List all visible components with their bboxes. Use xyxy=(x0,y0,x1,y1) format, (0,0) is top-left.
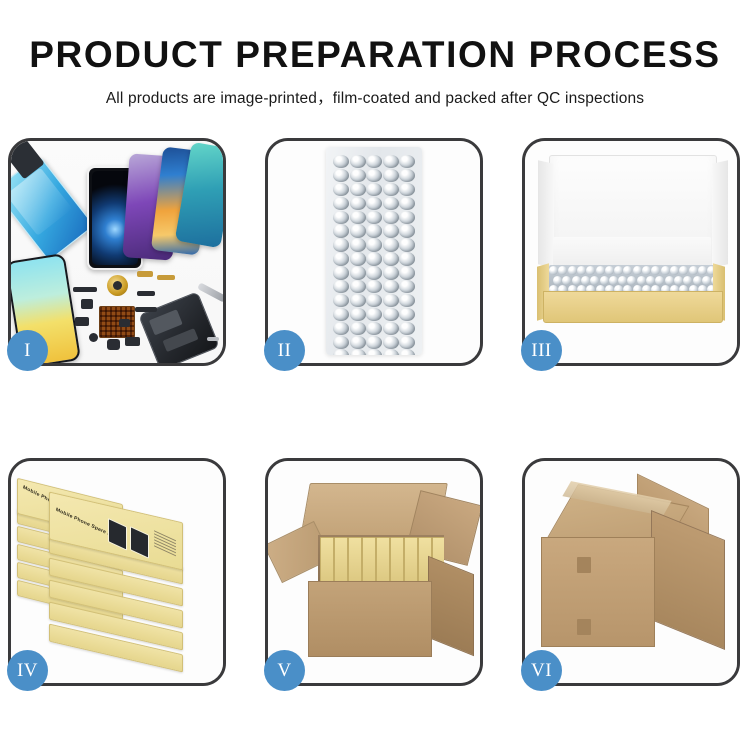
bubble-cell xyxy=(350,322,366,335)
bubble-cell xyxy=(399,294,415,307)
bubble-cell xyxy=(350,211,366,224)
bubble-cell xyxy=(549,266,558,275)
process-step-card-1: I xyxy=(8,138,226,366)
step-badge-6: VI xyxy=(521,650,562,691)
kraft-box-front-icon xyxy=(543,291,723,323)
step-badge-2: II xyxy=(264,330,305,371)
process-step-card-6: VI xyxy=(522,458,740,686)
bubble-cell xyxy=(399,266,415,279)
bubble-cell xyxy=(399,349,415,355)
bubble-cell xyxy=(383,252,399,265)
bubble-cell xyxy=(399,308,415,321)
page-subtitle: All products are image-printed，film-coat… xyxy=(0,75,750,108)
process-step-card-3: III xyxy=(522,138,740,366)
ribbon-cable-part-icon xyxy=(135,307,157,312)
bubble-cell xyxy=(366,308,382,321)
bubble-cell xyxy=(333,294,349,307)
bubble-cell xyxy=(399,211,415,224)
bubble-cell xyxy=(399,336,415,349)
process-step-card-5: V xyxy=(265,458,483,686)
carton-front-panel-icon xyxy=(308,581,432,657)
bubble-cell xyxy=(333,183,349,196)
bubble-cell xyxy=(399,197,415,210)
bubble-cell xyxy=(333,238,349,251)
carton-tab-lower-icon xyxy=(577,619,591,635)
bubble-cell xyxy=(399,155,415,168)
step-3-illustration xyxy=(525,141,737,363)
bubble-cell xyxy=(350,308,366,321)
bubble-cell xyxy=(366,197,382,210)
bubble-cell xyxy=(350,197,366,210)
bubble-cell xyxy=(600,276,609,285)
bubble-cell xyxy=(383,266,399,279)
page-title: PRODUCT PREPARATION PROCESS xyxy=(0,0,750,75)
bubble-cell xyxy=(333,322,349,335)
bubble-cell xyxy=(670,266,679,275)
bubble-cell xyxy=(553,276,562,285)
bubble-cell xyxy=(693,276,702,285)
bubble-cell xyxy=(350,280,366,293)
bubble-cell xyxy=(350,183,366,196)
speaker-part-icon xyxy=(125,337,140,346)
bubble-cell xyxy=(366,224,382,237)
bubble-cell xyxy=(627,276,636,285)
bubble-cell xyxy=(642,266,651,275)
bubble-cell xyxy=(689,266,698,275)
bubble-cell xyxy=(366,183,382,196)
bubble-cell xyxy=(333,336,349,349)
process-steps-grid: I II III xyxy=(8,138,742,686)
bubble-cell xyxy=(383,280,399,293)
bubble-cell xyxy=(333,155,349,168)
bubble-cell xyxy=(702,276,711,285)
bubble-cell xyxy=(383,197,399,210)
bubble-cell xyxy=(661,266,670,275)
vibrator-part-icon xyxy=(119,319,130,327)
bubble-cell xyxy=(399,280,415,293)
bubble-cell xyxy=(350,294,366,307)
bubble-cell xyxy=(350,169,366,182)
bubble-cell xyxy=(383,224,399,237)
bubble-cell xyxy=(333,224,349,237)
bubble-cell xyxy=(399,169,415,182)
bubble-cell xyxy=(646,276,655,285)
sealed-carton-front-icon xyxy=(541,537,655,647)
step-4-illustration: Mobile Phone Spare Parts Mobile Phone Sp… xyxy=(11,461,223,683)
step-5-illustration xyxy=(268,461,480,683)
bubble-cell xyxy=(683,276,692,285)
bubble-cell xyxy=(399,322,415,335)
bubble-cell xyxy=(333,211,349,224)
bubble-cell xyxy=(399,252,415,265)
bubble-cell xyxy=(333,266,349,279)
bracket-part-icon xyxy=(137,271,153,277)
bubble-cell xyxy=(366,349,382,355)
bubble-cell xyxy=(399,238,415,251)
bubble-cell xyxy=(333,349,349,355)
bubble-cell xyxy=(568,266,577,275)
bubble-cell xyxy=(366,322,382,335)
bubble-cell xyxy=(399,224,415,237)
bubble-cell xyxy=(333,169,349,182)
bubble-cell xyxy=(590,276,599,285)
bubble-cell xyxy=(383,183,399,196)
bubble-cell xyxy=(366,266,382,279)
bubble-cell xyxy=(333,308,349,321)
bubble-cell xyxy=(350,349,366,355)
bubble-cell xyxy=(623,266,632,275)
step-badge-4: IV xyxy=(7,650,48,691)
bubble-cell xyxy=(596,266,605,275)
camera-part-icon xyxy=(107,339,120,350)
bubble-cell xyxy=(350,155,366,168)
antenna-part-icon xyxy=(157,275,175,280)
bubble-cell xyxy=(562,276,571,285)
bubble-cell xyxy=(366,252,382,265)
bubble-cell xyxy=(350,224,366,237)
sim-tray-part-icon xyxy=(137,291,155,296)
step-1-illustration xyxy=(11,141,223,363)
flex-cable-part-icon xyxy=(73,287,97,292)
gold-coil-part-icon xyxy=(107,275,128,296)
bubble-cell xyxy=(383,322,399,335)
retail-box-stacks: Mobile Phone Spare Parts Mobile Phone Sp… xyxy=(17,477,223,677)
sealed-carton-side-icon xyxy=(651,510,725,650)
bubble-cell xyxy=(614,266,623,275)
bubble-cell xyxy=(633,266,642,275)
bubble-cell xyxy=(679,266,688,275)
step-badge-3: III xyxy=(521,330,562,371)
bubble-cell xyxy=(674,276,683,285)
bubble-cell xyxy=(383,336,399,349)
bubble-cell xyxy=(333,280,349,293)
bubble-cell xyxy=(366,211,382,224)
bubble-cell xyxy=(698,266,707,275)
process-step-card-2: II xyxy=(265,138,483,366)
product-preparation-infographic: PRODUCT PREPARATION PROCESS All products… xyxy=(0,0,750,750)
bubble-cell xyxy=(577,266,586,275)
phone-back-housing-icon xyxy=(138,291,220,363)
bubble-cell xyxy=(383,238,399,251)
bubble-cell xyxy=(399,183,415,196)
bubble-cell xyxy=(366,169,382,182)
bubble-cell xyxy=(383,155,399,168)
bubble-cell xyxy=(581,276,590,285)
bubble-cell xyxy=(366,280,382,293)
bubble-cell xyxy=(350,266,366,279)
header: PRODUCT PREPARATION PROCESS All products… xyxy=(0,0,750,108)
bubble-cell xyxy=(350,252,366,265)
carton-side-panel-icon xyxy=(428,556,474,657)
bubble-cell xyxy=(366,238,382,251)
connector-part-icon xyxy=(81,299,93,309)
bubble-cell xyxy=(609,276,618,285)
bubble-cell xyxy=(586,266,595,275)
bubble-cell xyxy=(333,252,349,265)
bubble-cell xyxy=(383,294,399,307)
bubble-cell xyxy=(618,276,627,285)
screw-set-icon xyxy=(207,337,219,341)
step-6-illustration xyxy=(525,461,737,683)
bubble-wrap-pouch-icon xyxy=(326,147,422,355)
process-step-card-4: Mobile Phone Spare Parts Mobile Phone Sp… xyxy=(8,458,226,686)
bubble-cell xyxy=(383,211,399,224)
bubble-cell xyxy=(366,155,382,168)
bubble-cell xyxy=(366,336,382,349)
button-part-icon xyxy=(89,333,98,342)
bubble-cell xyxy=(350,238,366,251)
bubble-cell xyxy=(383,169,399,182)
step-badge-1: I xyxy=(7,330,48,371)
step-2-illustration xyxy=(268,141,480,363)
bubble-cell xyxy=(655,276,664,285)
bubble-cell xyxy=(558,266,567,275)
bubble-cell xyxy=(572,276,581,285)
bubble-cell xyxy=(605,266,614,275)
bubble-cell xyxy=(383,308,399,321)
bubble-grid xyxy=(333,155,415,347)
bubble-cell xyxy=(665,276,674,285)
bubble-cell xyxy=(366,294,382,307)
carton-tab-upper-icon xyxy=(577,557,591,573)
bubble-cell xyxy=(350,336,366,349)
bubble-cell xyxy=(651,266,660,275)
step-badge-5: V xyxy=(264,650,305,691)
bubble-cell xyxy=(333,197,349,210)
small-chip-part-icon xyxy=(75,317,89,326)
bubble-cell xyxy=(637,276,646,285)
bubble-cell xyxy=(383,349,399,355)
